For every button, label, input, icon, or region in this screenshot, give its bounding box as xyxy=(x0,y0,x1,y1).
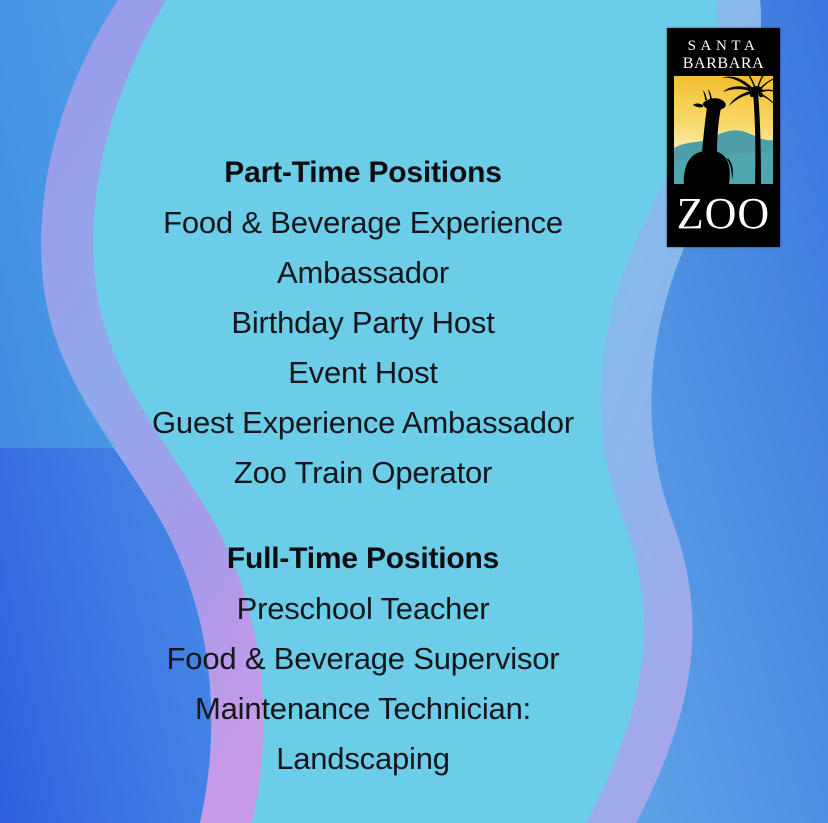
logo-text-zoo: ZOO xyxy=(677,189,770,238)
zoo-logo-artwork: SANTA BARBARA xyxy=(667,28,780,247)
santa-barbara-zoo-logo: SANTA BARBARA xyxy=(667,28,780,247)
job-openings-poster: SANTA BARBARA xyxy=(0,0,828,823)
logo-text-santa: SANTA xyxy=(688,38,760,54)
logo-text-barbara: BARBARA xyxy=(683,55,765,72)
